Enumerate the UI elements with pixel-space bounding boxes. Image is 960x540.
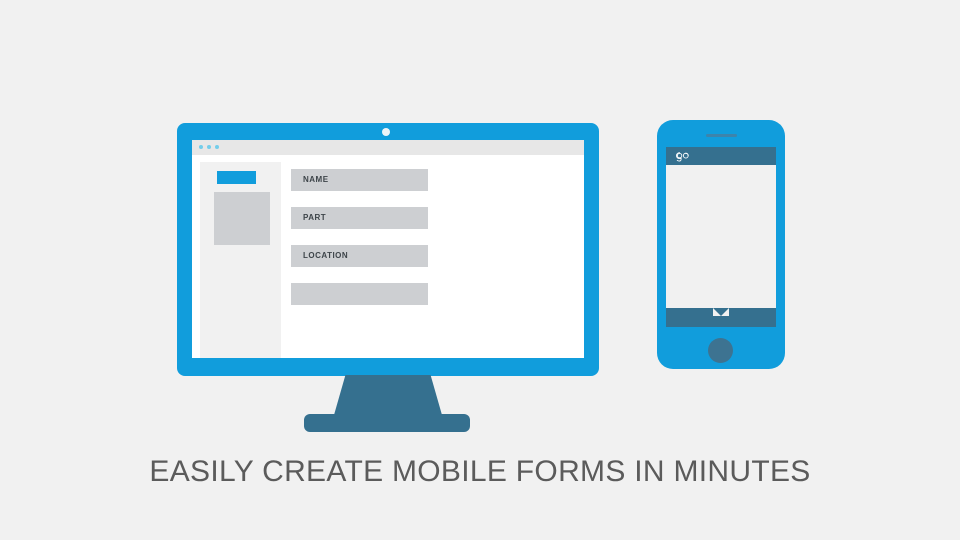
browser-window: NAME PART LOCATION (192, 140, 584, 358)
phone-app-header (666, 147, 776, 165)
phone-screen (666, 147, 776, 327)
page-title: EASILY CREATE MOBILE FORMS IN MINUTES (0, 455, 960, 489)
browser-titlebar (192, 140, 584, 155)
window-dot-close-icon[interactable] (199, 145, 203, 149)
form-field-label: NAME (303, 176, 329, 184)
form-field-part[interactable]: PART (291, 207, 428, 229)
mobile-phone (657, 120, 785, 369)
go-logo-icon (673, 149, 693, 163)
form-field-name[interactable]: NAME (291, 169, 428, 191)
home-button-icon[interactable] (708, 338, 733, 363)
form-builder-canvas: NAME PART LOCATION (281, 155, 584, 358)
form-field-label: PART (303, 214, 326, 222)
camera-dot-icon (382, 128, 390, 136)
sidebar-panel (200, 162, 281, 358)
speaker-grille-icon (706, 134, 737, 137)
browser-content-area: NAME PART LOCATION (192, 155, 584, 358)
illustration-stage: NAME PART LOCATION (0, 0, 960, 540)
window-dot-maximize-icon[interactable] (215, 145, 219, 149)
sidebar-primary-button[interactable] (217, 171, 256, 184)
window-dot-minimize-icon[interactable] (207, 145, 211, 149)
form-field-label: LOCATION (303, 252, 348, 260)
desktop-monitor: NAME PART LOCATION (177, 123, 599, 376)
form-field-empty[interactable] (291, 283, 428, 305)
sidebar-thumbnail-placeholder (214, 192, 270, 245)
window-controls[interactable] (199, 145, 219, 149)
monitor-stand-base (304, 414, 470, 432)
footer-notch-icon (713, 308, 729, 316)
form-field-location[interactable]: LOCATION (291, 245, 428, 267)
phone-content-area (666, 165, 776, 308)
